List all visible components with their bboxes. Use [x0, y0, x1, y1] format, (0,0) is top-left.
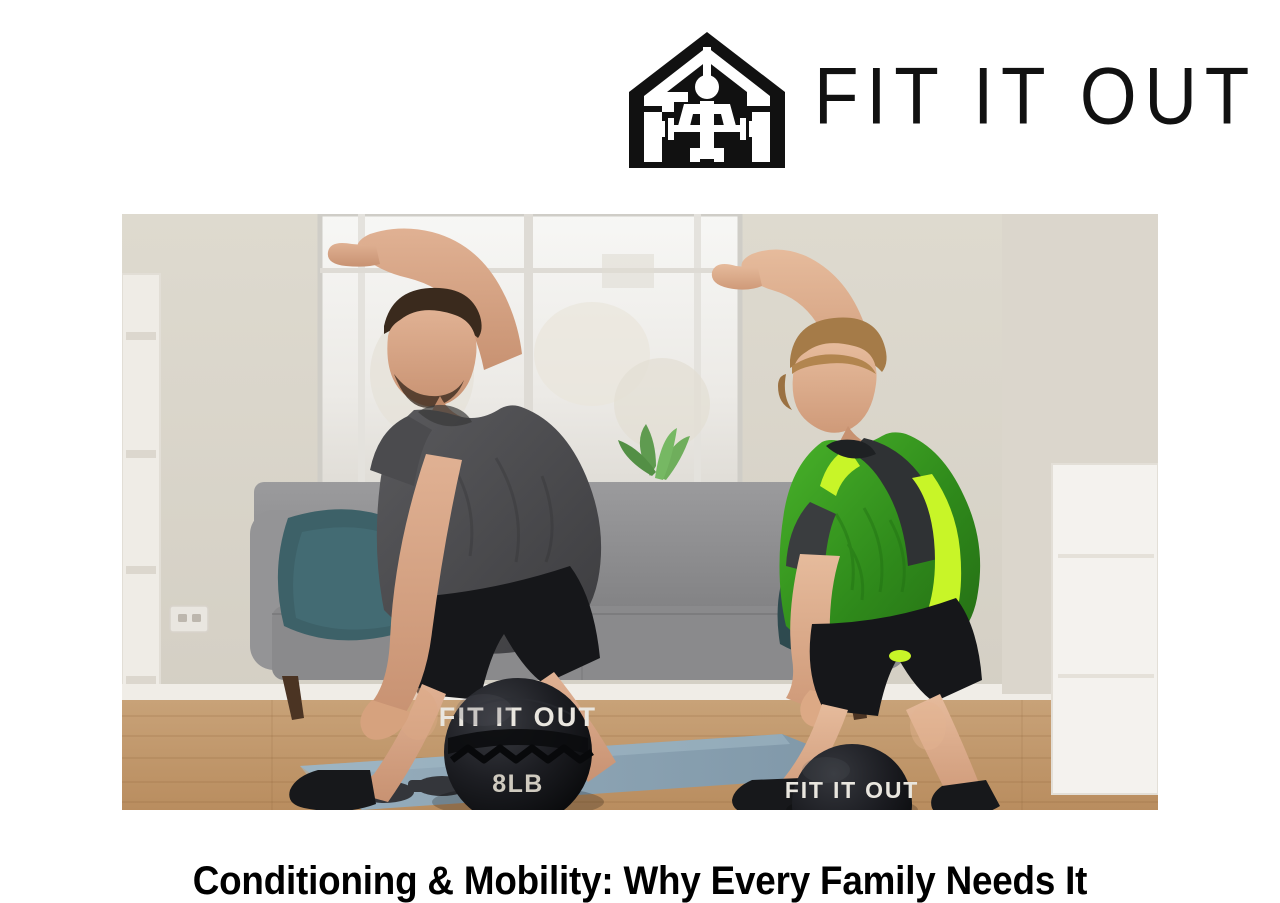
- hero-image: FIT IT OUT 8LB FIT IT OUT: [122, 214, 1158, 810]
- ball-weight-text: 8LB: [492, 770, 543, 798]
- article-header-page: FIT IT OUT: [0, 0, 1280, 900]
- ball2-brand-text: FIT IT OUT: [785, 777, 919, 803]
- gym-house-barbell-icon: [628, 30, 786, 170]
- page-title: Conditioning & Mobility: Why Every Famil…: [51, 859, 1229, 903]
- brand-wordmark: FIT IT OUT: [814, 57, 1257, 144]
- brand-logo[interactable]: FIT IT OUT: [628, 30, 1275, 170]
- site-header: FIT IT OUT: [0, 0, 1280, 196]
